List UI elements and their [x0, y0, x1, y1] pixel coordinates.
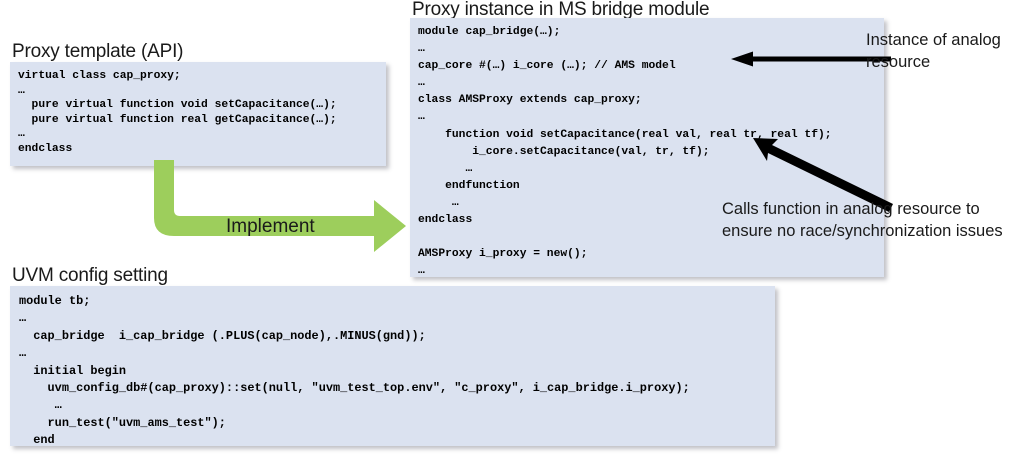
code-block-proxy-template: virtual class cap_proxy; … pure virtual …: [10, 62, 386, 166]
note-instance-of-analog-resource: Instance of analog resource: [866, 29, 1024, 73]
implement-arrow-label: Implement: [226, 216, 315, 238]
implement-flow-arrow-icon: [150, 160, 410, 260]
caption-proxy-template: Proxy template (API): [12, 41, 183, 63]
code-text-proxy-template: virtual class cap_proxy; … pure virtual …: [10, 62, 386, 157]
code-block-uvm-config: module tb; … cap_bridge i_cap_bridge (.P…: [10, 286, 775, 446]
note-calls-function-analog-resource: Calls function in analog resource to ens…: [722, 198, 1024, 242]
code-text-uvm-config: module tb; … cap_bridge i_cap_bridge (.P…: [10, 286, 775, 446]
caption-uvm-config: UVM config setting: [12, 265, 168, 287]
diagram-canvas: Proxy template (API) virtual class cap_p…: [0, 0, 1024, 458]
